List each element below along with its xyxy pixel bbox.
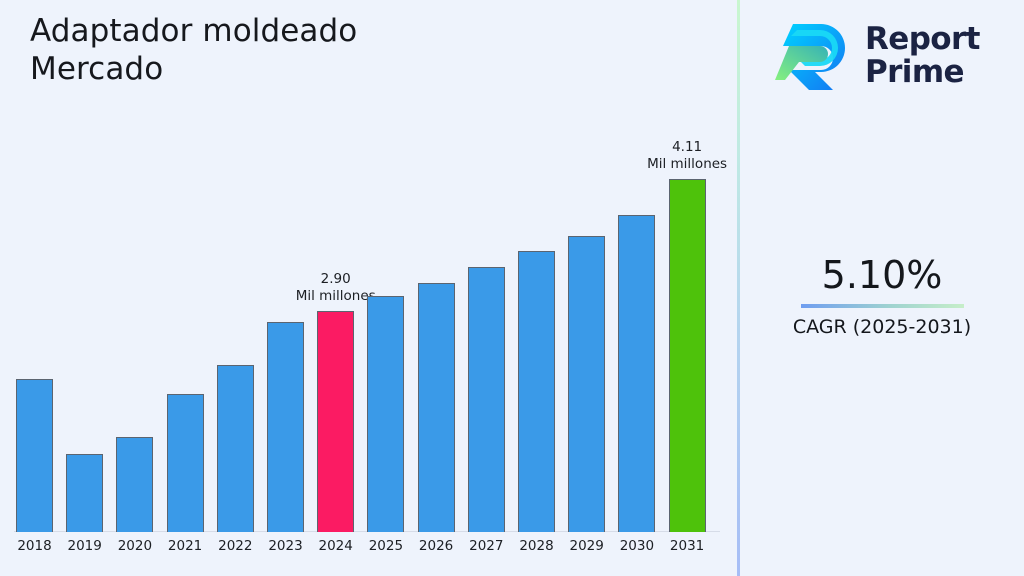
bar-rect-2028[interactable] [518,251,555,532]
cagr-label: CAGR (2025-2031) [740,315,1024,339]
cagr-block: 5.10% CAGR (2025-2031) [740,252,1024,339]
bar-2029[interactable] [566,120,607,532]
bar-rect-2019[interactable] [66,454,103,532]
bar-2028[interactable] [516,120,557,532]
bar-2018[interactable] [14,120,55,532]
chart-infographic: Adaptador moldeado Mercado 2.90 Mil mill… [0,0,1024,576]
x-axis-tick-labels: 2018201920202021202220232024202520262027… [0,538,738,564]
cagr-divider-rule [801,304,964,308]
bar-rect-2018[interactable] [16,379,53,532]
bar-rect-2030[interactable] [618,215,655,532]
bar-rect-2029[interactable] [568,236,605,532]
bar-2021[interactable] [165,120,206,532]
chart-panel: Adaptador moldeado Mercado 2.90 Mil mill… [0,0,738,576]
bar-rect-2024[interactable] [317,311,354,532]
logo-wordmark: Report Prime [865,23,980,89]
report-prime-r-mark-icon [775,20,853,92]
bar-rect-2022[interactable] [217,365,254,532]
page-title: Adaptador moldeado Mercado [30,12,357,88]
bar-rect-2020[interactable] [116,437,153,532]
cagr-value: 5.10% [740,252,1024,298]
bar-2025[interactable] [365,120,406,532]
bar-rect-2026[interactable] [418,283,455,532]
x-tick-2031: 2031 [657,538,717,554]
bar-2023[interactable] [265,120,306,532]
bar-2026[interactable] [416,120,457,532]
report-prime-logo: Report Prime [775,13,1005,99]
bar-2031[interactable]: 4.11 Mil millones [667,120,708,532]
bar-2022[interactable] [215,120,256,532]
bar-rect-2031[interactable] [669,179,706,532]
bar-2020[interactable] [114,120,155,532]
bar-rect-2023[interactable] [267,322,304,532]
bar-rect-2027[interactable] [468,267,505,532]
bar-2027[interactable] [466,120,507,532]
brand-panel: Report Prime 5.10% CAGR (2025-2031) [740,0,1024,576]
bar-rect-2025[interactable] [367,296,404,532]
bar-chart-plot-area: 2.90 Mil millones4.11 Mil millones [0,120,738,532]
bar-2024[interactable]: 2.90 Mil millones [315,120,356,532]
bar-rect-2021[interactable] [167,394,204,532]
bar-2019[interactable] [64,120,105,532]
bar-2030[interactable] [616,120,657,532]
